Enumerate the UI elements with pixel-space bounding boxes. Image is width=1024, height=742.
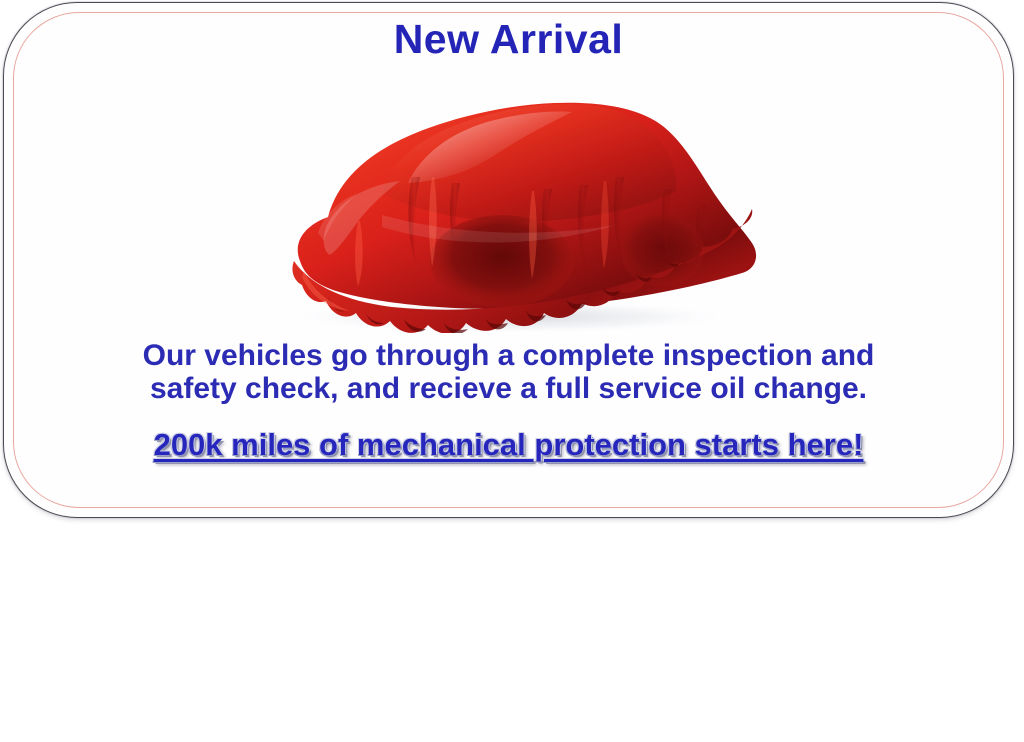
promo-banner: New Arrival xyxy=(0,0,1024,742)
promo-card: New Arrival xyxy=(3,2,1014,518)
body-copy-line: Our vehicles go through a complete inspe… xyxy=(38,339,979,372)
tagline: 200k miles of mechanical protection star… xyxy=(4,427,1013,463)
covered-car-image xyxy=(232,65,772,333)
page-title: New Arrival xyxy=(4,17,1013,61)
body-copy: Our vehicles go through a complete inspe… xyxy=(38,339,979,405)
body-copy-line: safety check, and recieve a full service… xyxy=(38,372,979,405)
